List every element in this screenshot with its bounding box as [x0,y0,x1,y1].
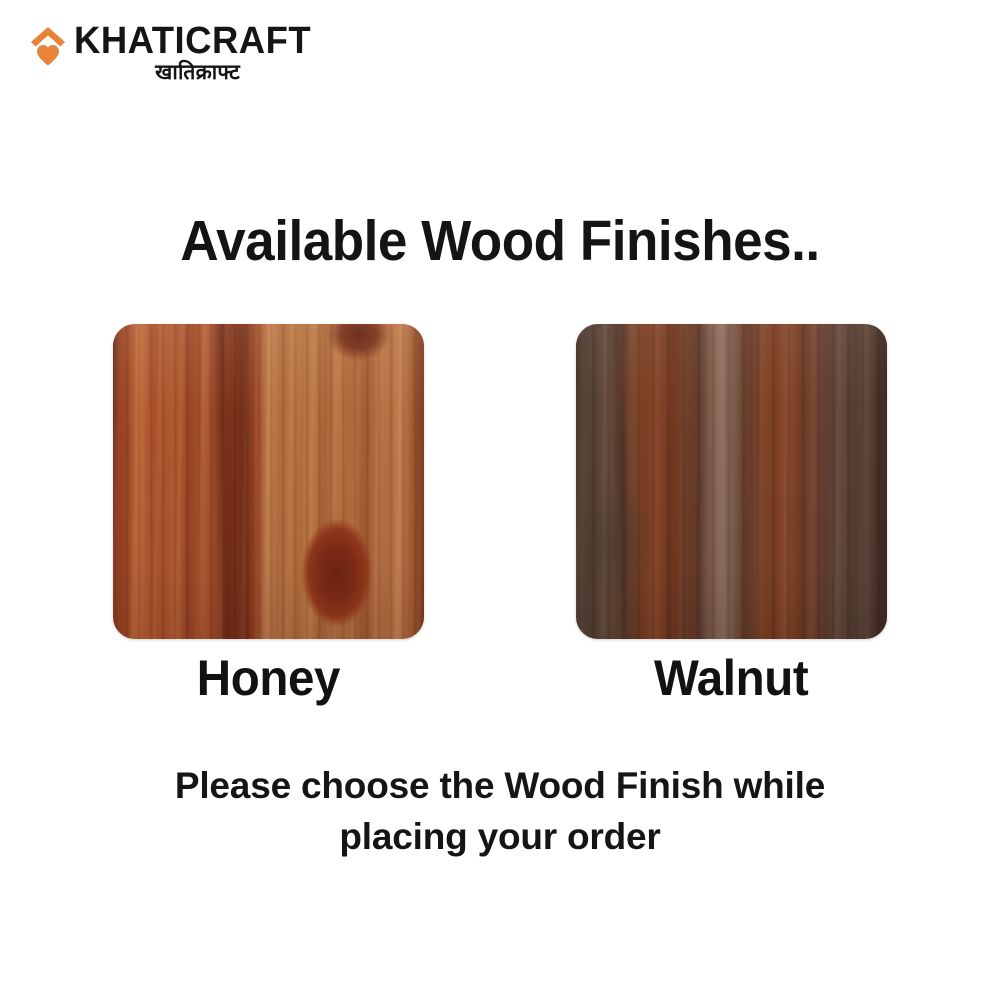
brand-wordmark: KHATICRAFT खातिक्राफ्ट [74,22,321,83]
brand-logo[interactable]: KHATICRAFT खातिक्राफ्ट [28,22,321,83]
honey-label: Honey [197,649,340,707]
instruction-text: Please choose the Wood Finish while plac… [140,760,860,862]
promo-page: KHATICRAFT खातिक्राफ्ट Available Wood Fi… [0,0,1000,1000]
instruction-line-2: placing your order [140,811,860,862]
instruction-line-1: Please choose the Wood Finish while [140,760,860,811]
finish-option-walnut[interactable]: Walnut [576,324,887,707]
walnut-wood-swatch[interactable] [576,324,887,639]
walnut-sheen-layer [576,324,887,639]
brand-name: KHATICRAFT [74,22,311,60]
honey-sheen-layer [113,324,424,639]
wood-finish-options: Honey Walnut [0,324,1000,707]
page-title: Available Wood Finishes.. [35,208,965,274]
brand-subtitle-hindi: खातिक्राफ्ट [155,62,240,83]
house-heart-icon [28,25,68,69]
walnut-label: Walnut [654,649,808,707]
finish-option-honey[interactable]: Honey [113,324,424,707]
honey-wood-swatch[interactable] [113,324,424,639]
